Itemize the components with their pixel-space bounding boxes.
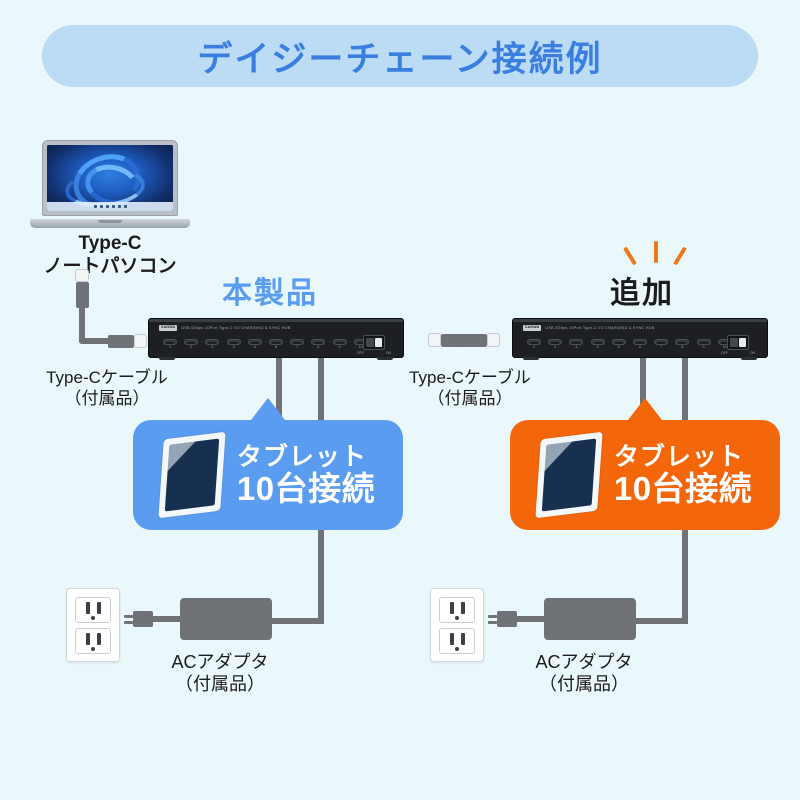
typec-connector-body xyxy=(461,334,487,347)
power-cable-left-vertical-bottom xyxy=(318,530,324,624)
burst-ray xyxy=(623,246,637,265)
usb-c-port-icon xyxy=(163,339,177,345)
usb-c-port-icon xyxy=(333,339,347,345)
heading-additional: 追加 xyxy=(610,268,674,312)
callout-right: タブレット 10台接続 xyxy=(510,420,780,530)
hub-top-edge xyxy=(149,319,403,322)
hub-port-number: 8 xyxy=(311,346,325,350)
usb-c-port-icon xyxy=(248,339,262,345)
usb-hub-right: SANWA USB 5Gbps 10Port Type-C I/O CHARGI… xyxy=(512,318,768,358)
switch-labels: OFF ON xyxy=(721,351,755,355)
outlet-ground-hole xyxy=(455,616,459,620)
hub-port[interactable]: 2 xyxy=(184,339,198,350)
laptop-illustration xyxy=(30,140,190,228)
hub-port[interactable]: 6 xyxy=(633,339,647,350)
typec-connector-tip xyxy=(428,333,441,347)
hub-port-number: 3 xyxy=(569,346,583,350)
hub-port-row: 1 2 3 4 5 6 7 xyxy=(163,339,368,350)
starburst-icon xyxy=(620,240,712,270)
outlet-slot xyxy=(450,633,454,645)
burst-ray xyxy=(654,241,658,263)
page-title-banner: デイジーチェーン接続例 xyxy=(42,25,758,87)
hub-logo: SANWA xyxy=(523,325,541,331)
switch-on-side xyxy=(375,338,383,347)
callout-left-text: タブレット 10台接続 xyxy=(237,444,375,507)
power-cable-right-vertical-bottom xyxy=(682,530,688,624)
usb-c-port-icon xyxy=(311,339,325,345)
switch-off-label: OFF xyxy=(357,351,364,355)
hub-port-number: 9 xyxy=(697,346,711,350)
laptop-label-line1: Type-C xyxy=(20,232,200,255)
callout-left-line1: タブレット xyxy=(237,444,375,470)
tablet-icon xyxy=(158,432,225,519)
hub-port-number: 7 xyxy=(290,346,304,350)
hub-port-number: 2 xyxy=(184,346,198,350)
ac-adapter-label-right-line1: ACアダプタ xyxy=(489,652,679,674)
outlet-ground-hole xyxy=(455,647,459,651)
hub-port-number: 5 xyxy=(248,346,262,350)
power-cable-right-horizontal xyxy=(634,618,688,624)
hub-port-number: 6 xyxy=(269,346,283,350)
ac-adapter-label-left-line1: ACアダプタ xyxy=(125,652,315,674)
power-cable-left-horizontal xyxy=(270,618,324,624)
page-title: デイジーチェーン接続例 xyxy=(197,31,602,82)
usb-c-port-icon xyxy=(697,339,711,345)
power-switch[interactable] xyxy=(363,335,385,350)
hub-port-number: 3 xyxy=(205,346,219,350)
ac-plug-left xyxy=(133,611,153,627)
ac-adapter-left xyxy=(180,598,272,640)
callout-arrow xyxy=(628,398,662,420)
laptop-label: Type-C ノートパソコン xyxy=(20,232,200,278)
tablet-screen xyxy=(165,439,219,512)
typec-cable-label-middle: Type-Cケーブル （付属品） xyxy=(375,368,565,409)
outlet-slot xyxy=(461,633,465,645)
hub-port[interactable]: 4 xyxy=(591,339,605,350)
burst-ray xyxy=(673,246,687,265)
ac-plug-prong xyxy=(488,615,497,618)
switch-on-side xyxy=(739,338,747,347)
hub-model-text: USB 5Gbps 10Port Type-C I/O CHARGING & S… xyxy=(545,326,654,330)
hub-port[interactable]: 3 xyxy=(569,339,583,350)
callout-right-line1: タブレット xyxy=(614,444,752,470)
laptop-screen xyxy=(47,145,173,211)
usb-c-port-icon xyxy=(654,339,668,345)
laptop-lid xyxy=(42,140,178,216)
hub-port-number: 9 xyxy=(333,346,347,350)
ac-adapter-label-left-line2: （付属品） xyxy=(125,674,315,696)
taskbar-icon xyxy=(94,205,97,208)
typec-connector-tip xyxy=(487,333,500,347)
hub-port[interactable]: 3 xyxy=(205,339,219,350)
wall-outlet-right xyxy=(430,588,484,662)
power-switch[interactable] xyxy=(727,335,749,350)
typec-plug-upper xyxy=(75,269,89,308)
hub-port[interactable]: 8 xyxy=(311,339,325,350)
outlet-socket xyxy=(75,628,111,654)
ac-adapter-label-right-line2: （付属品） xyxy=(489,674,679,696)
outlet-slot xyxy=(450,602,454,614)
switch-on-label: ON xyxy=(750,351,755,355)
typec-cable-label-left-line2: （付属品） xyxy=(12,389,202,410)
typec-plug-lower xyxy=(108,334,147,348)
taskbar xyxy=(47,202,173,211)
hub-port-number: 4 xyxy=(227,346,241,350)
ac-adapter-label-right: ACアダプタ （付属品） xyxy=(489,652,679,696)
outlet-slot xyxy=(86,602,90,614)
hub-port-number: 6 xyxy=(633,346,647,350)
taskbar-icon xyxy=(100,205,103,208)
callout-left-line2: 10台接続 xyxy=(237,472,375,507)
usb-c-port-icon xyxy=(591,339,605,345)
usb-c-port-icon xyxy=(633,339,647,345)
outlet-socket xyxy=(439,597,475,623)
outlet-ground-hole xyxy=(91,647,95,651)
taskbar-icon xyxy=(124,205,127,208)
hub-branding: SANWA USB 5Gbps 10Port Type-C I/O CHARGI… xyxy=(523,325,655,331)
ac-adapter-right xyxy=(544,598,636,640)
usb-c-port-icon xyxy=(205,339,219,345)
hub-port[interactable]: 7 xyxy=(654,339,668,350)
usb-c-port-icon xyxy=(612,339,626,345)
switch-off-label: OFF xyxy=(721,351,728,355)
typec-connector-body xyxy=(76,282,89,308)
laptop-notch xyxy=(98,220,122,223)
hub-port[interactable]: 5 xyxy=(248,339,262,350)
outlet-ground-hole xyxy=(91,616,95,620)
diagram-canvas: デイジーチェーン接続例 Type-C ノー xyxy=(0,0,800,800)
ac-adapter-label-left: ACアダプタ （付属品） xyxy=(125,652,315,696)
hub-branding: SANWA USB 5Gbps 10Port Type-C I/O CHARGI… xyxy=(159,325,291,331)
usb-c-port-icon xyxy=(569,339,583,345)
typec-cable-label-middle-line1: Type-Cケーブル xyxy=(375,368,565,389)
tablet-screen xyxy=(542,439,596,512)
usb-c-port-icon xyxy=(675,339,689,345)
hub-port-number: 1 xyxy=(527,346,541,350)
hub-port-number: 7 xyxy=(654,346,668,350)
callout-arrow xyxy=(251,398,285,420)
hub-port[interactable]: 4 xyxy=(227,339,241,350)
usb-c-port-icon xyxy=(548,339,562,345)
hub-power-switch-group[interactable]: OFF ON xyxy=(721,335,755,355)
hub-port[interactable]: 9 xyxy=(697,339,711,350)
callout-right-text: タブレット 10台接続 xyxy=(614,444,752,507)
hub-port[interactable]: 1 xyxy=(163,339,177,350)
usb-hub-left: SANWA USB 5Gbps 10Port Type-C I/O CHARGI… xyxy=(148,318,404,358)
typec-connector-body xyxy=(108,335,134,348)
typec-connector-tip xyxy=(75,269,89,282)
ac-plug-prong xyxy=(488,621,497,624)
usb-c-port-icon xyxy=(269,339,283,345)
outlet-socket xyxy=(75,597,111,623)
typec-connector-tip xyxy=(134,334,147,348)
usb-c-port-icon xyxy=(527,339,541,345)
hub-port[interactable]: 6 xyxy=(269,339,283,350)
outlet-slot xyxy=(97,602,101,614)
hub-port[interactable]: 2 xyxy=(548,339,562,350)
hub-foot xyxy=(159,357,175,360)
hub-model-text: USB 5Gbps 10Port Type-C I/O CHARGING & S… xyxy=(181,326,290,330)
wall-outlet-left xyxy=(66,588,120,662)
usb-c-port-icon xyxy=(184,339,198,345)
ac-plug-prong xyxy=(124,621,133,624)
typec-plug-mid-right xyxy=(461,333,500,347)
hub-port-number: 1 xyxy=(163,346,177,350)
outlet-slot xyxy=(97,633,101,645)
hub-foot xyxy=(741,357,757,360)
switch-off-side xyxy=(366,338,374,347)
hub-port-number: 2 xyxy=(548,346,562,350)
hub-port-number: 4 xyxy=(591,346,605,350)
laptop-label-line2: ノートパソコン xyxy=(20,255,200,278)
typec-cable-label-middle-line2: （付属品） xyxy=(375,389,565,410)
hub-power-switch-group[interactable]: OFF ON xyxy=(357,335,391,355)
usb-c-port-icon xyxy=(290,339,304,345)
ac-plug-prong xyxy=(124,615,133,618)
ac-plug-right xyxy=(497,611,517,627)
hub-port-number: 5 xyxy=(612,346,626,350)
typec-cable-label-left: Type-Cケーブル （付属品） xyxy=(12,368,202,409)
hub-port[interactable]: 1 xyxy=(527,339,541,350)
taskbar-icon xyxy=(118,205,121,208)
callout-left: タブレット 10台接続 xyxy=(133,420,403,530)
usb-c-port-icon xyxy=(227,339,241,345)
hub-port[interactable]: 9 xyxy=(333,339,347,350)
outlet-slot xyxy=(86,633,90,645)
switch-off-side xyxy=(730,338,738,347)
outlet-socket xyxy=(439,628,475,654)
hub-port[interactable]: 8 xyxy=(675,339,689,350)
tablet-icon xyxy=(535,432,602,519)
hub-port[interactable]: 5 xyxy=(612,339,626,350)
switch-on-label: ON xyxy=(386,351,391,355)
hub-foot xyxy=(377,357,393,360)
hub-top-edge xyxy=(513,319,767,322)
hub-logo: SANWA xyxy=(159,325,177,331)
outlet-slot xyxy=(461,602,465,614)
taskbar-icon xyxy=(112,205,115,208)
hub-port-row: 1 2 3 4 5 6 7 xyxy=(527,339,732,350)
heading-product: 本製品 xyxy=(222,268,318,312)
hub-port-number: 8 xyxy=(675,346,689,350)
hub-foot xyxy=(523,357,539,360)
switch-labels: OFF ON xyxy=(357,351,391,355)
callout-right-line2: 10台接続 xyxy=(614,472,752,507)
typec-cable-label-left-line1: Type-Cケーブル xyxy=(12,368,202,389)
hub-port[interactable]: 7 xyxy=(290,339,304,350)
taskbar-icon xyxy=(106,205,109,208)
